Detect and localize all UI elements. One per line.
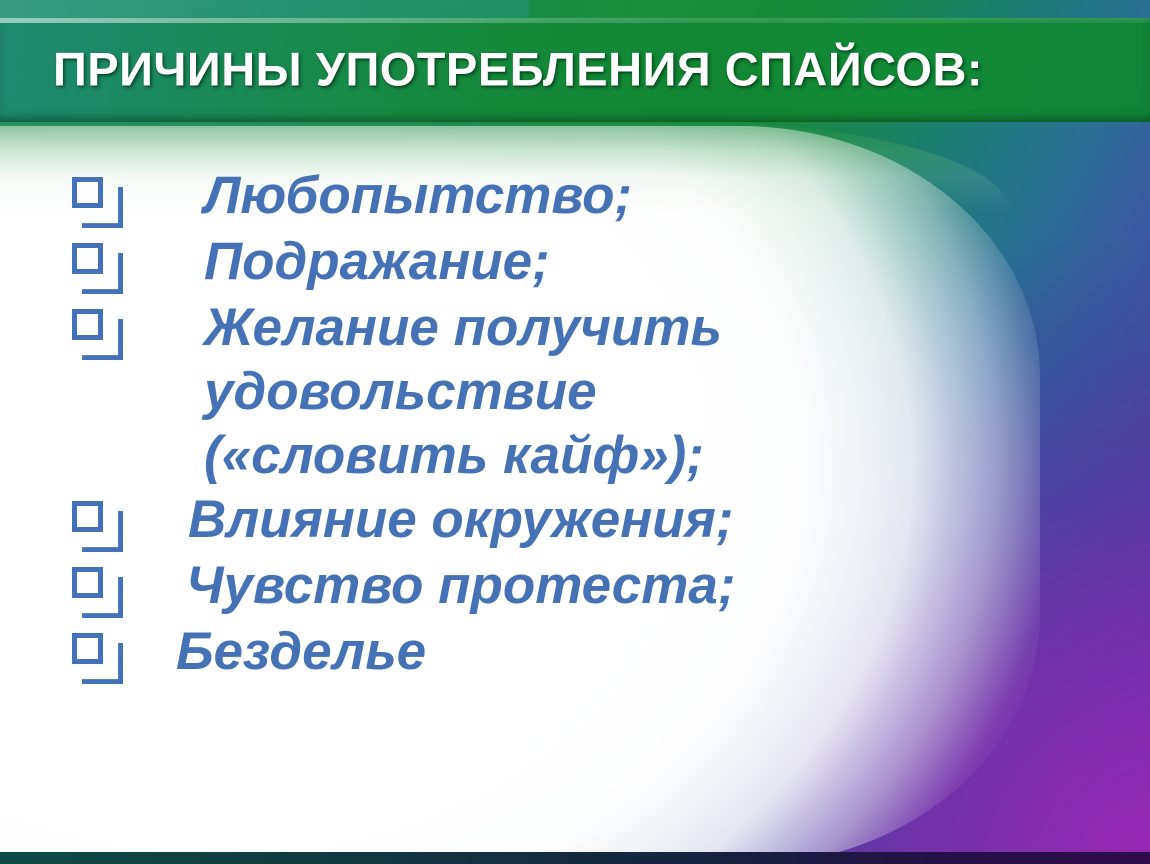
list-item: Чувство протеста; [0,554,1000,620]
list-item-label-protest: Чувство протеста; [150,554,1000,618]
presentation-slide: ПРИЧИНЫ УПОТРЕБЛЕНИЯ СПАЙСОВ: Любопытств… [0,0,1150,864]
hollow-square-bullet-icon [72,501,103,532]
list-item-label-curiosity: Любопытство; [150,164,1000,228]
bottom-edge-strip [0,852,1150,864]
bullet-cell [0,620,150,664]
header-highlight-line [0,18,1150,23]
slide-title: ПРИЧИНЫ УПОТРЕБЛЕНИЯ СПАЙСОВ: [53,41,983,96]
hollow-square-bullet-icon [72,243,103,274]
list-item: Любопытство; [0,164,1000,230]
reasons-bullet-list: Любопытство; Подражание; Желание получит… [0,164,1000,686]
bullet-cell [0,554,150,598]
list-item: Влияние окружения; [0,488,1000,554]
bullet-cell [0,488,150,532]
bullet-cell [0,164,150,208]
list-item: Желание получить удовольствие («словить … [0,296,1000,488]
list-item-label-idleness: Безделье [150,620,1000,684]
hollow-square-bullet-icon [72,633,103,664]
hollow-square-bullet-icon [72,567,103,598]
slide-header-bar: ПРИЧИНЫ УПОТРЕБЛЕНИЯ СПАЙСОВ: [0,18,1150,122]
bullet-cell [0,230,150,274]
list-item: Безделье [0,620,1000,686]
hollow-square-bullet-icon [72,177,103,208]
list-item: Подражание; [0,230,1000,296]
hollow-square-bullet-icon [72,309,103,340]
list-item-label-environment: Влияние окружения; [150,488,1000,552]
list-item-label-pleasure: Желание получить удовольствие («словить … [150,296,1000,488]
list-item-label-imitation: Подражание; [150,230,1000,294]
bullet-cell [0,296,150,340]
